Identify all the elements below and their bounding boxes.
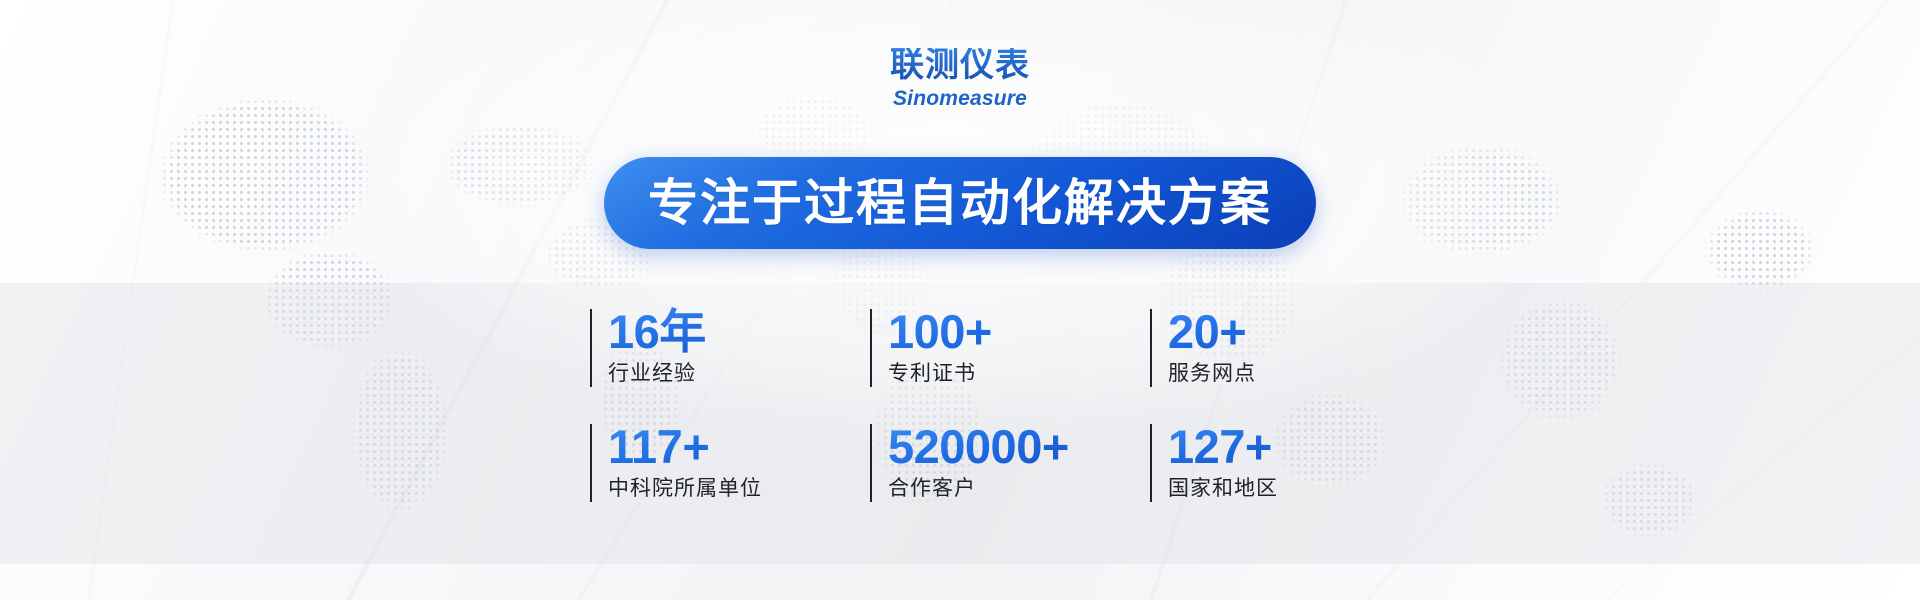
stat-item-countries-and-regions: 127+ 国家和地区 [1150, 422, 1330, 537]
stat-divider-bar [870, 424, 872, 502]
stat-label: 服务网点 [1168, 361, 1330, 386]
stat-item-industry-experience: 16年 行业经验 [590, 307, 870, 422]
banner-content: 联测仪表 Sinomeasure 专注于过程自动化解决方案 16年 行业经验 1… [0, 0, 1920, 600]
stat-divider-bar [1150, 424, 1152, 502]
headline-text: 专注于过程自动化解决方案 [648, 178, 1272, 228]
stat-label: 合作客户 [888, 476, 1150, 501]
stat-item-partner-customers: 520000+ 合作客户 [870, 422, 1150, 537]
stat-value: 100+ [888, 307, 1150, 357]
stat-value: 520000+ [888, 422, 1150, 472]
stat-item-cas-affiliated-units: 117+ 中科院所属单位 [590, 422, 870, 537]
stat-item-patent-certificates: 100+ 专利证书 [870, 307, 1150, 422]
stat-label: 中科院所属单位 [608, 476, 870, 501]
stat-divider-bar [870, 309, 872, 387]
company-logo: 联测仪表 Sinomeasure [0, 48, 1920, 109]
stat-label: 国家和地区 [1168, 476, 1330, 501]
logo-name-chinese: 联测仪表 [0, 48, 1920, 82]
stat-value: 16年 [608, 307, 870, 357]
hero-banner: 联测仪表 Sinomeasure 专注于过程自动化解决方案 16年 行业经验 1… [0, 0, 1920, 600]
stat-item-service-outlets: 20+ 服务网点 [1150, 307, 1330, 422]
stat-value: 117+ [608, 422, 870, 472]
stat-divider-bar [590, 309, 592, 387]
stat-divider-bar [590, 424, 592, 502]
headline-pill: 专注于过程自动化解决方案 [604, 157, 1316, 249]
stat-value: 20+ [1168, 307, 1330, 357]
logo-name-english: Sinomeasure [0, 88, 1920, 109]
stat-value: 127+ [1168, 422, 1330, 472]
stat-label: 行业经验 [608, 361, 870, 386]
stat-label: 专利证书 [888, 361, 1150, 386]
stats-grid: 16年 行业经验 100+ 专利证书 20+ 服务网点 117+ 中科院所属单位 [590, 307, 1330, 537]
stat-divider-bar [1150, 309, 1152, 387]
